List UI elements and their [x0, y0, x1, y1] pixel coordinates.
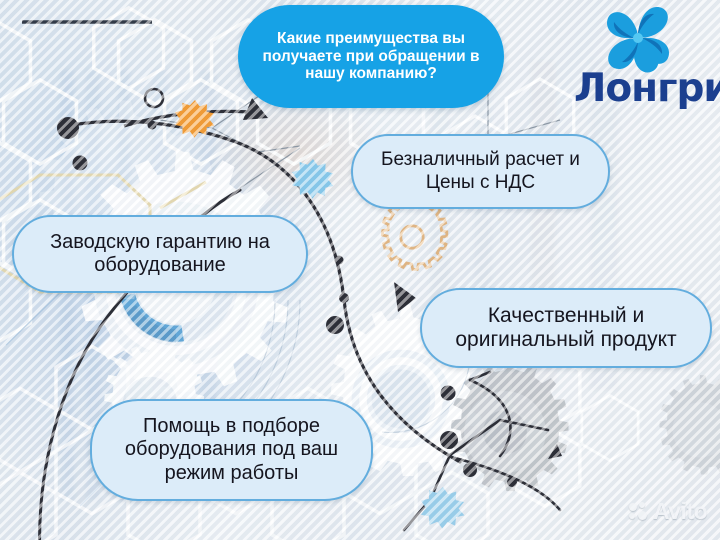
longri-logo[interactable]: Лонгри: [578, 4, 720, 114]
pinwheel-flower-icon: [578, 4, 720, 74]
benefit-quality[interactable]: Качественный и оригинальный продукт: [420, 288, 712, 368]
starburst-lightblue-upper: [292, 159, 333, 199]
logo-wordmark: Лонгри: [574, 66, 720, 111]
benefit-warranty[interactable]: Заводскую гарантию на оборудование: [12, 215, 308, 293]
starburst-lightblue-lower: [421, 487, 464, 529]
gear-gray-edge: [659, 375, 720, 475]
benefit-help-text: Помощь в подборе оборудования под ваш ре…: [92, 415, 371, 485]
question-bubble-text: Какие преимущества вы получаете при обра…: [238, 30, 504, 84]
benefit-quality-text: Качественный и оригинальный продукт: [422, 304, 710, 353]
benefit-vat[interactable]: Безналичный расчет и Цены с НДС: [351, 134, 610, 209]
benefit-warranty-text: Заводскую гарантию на оборудование: [14, 231, 306, 277]
avito-watermark: Avito: [629, 498, 707, 524]
benefit-vat-text: Безналичный расчет и Цены с НДС: [353, 149, 608, 193]
benefit-help[interactable]: Помощь в подборе оборудования под ваш ре…: [90, 399, 373, 501]
question-bubble[interactable]: Какие преимущества вы получаете при обра…: [238, 5, 504, 108]
poster-canvas: Какие преимущества вы получаете при обра…: [0, 0, 720, 540]
avito-wordmark: Avito: [653, 498, 707, 525]
avito-dots-icon: [629, 502, 649, 520]
